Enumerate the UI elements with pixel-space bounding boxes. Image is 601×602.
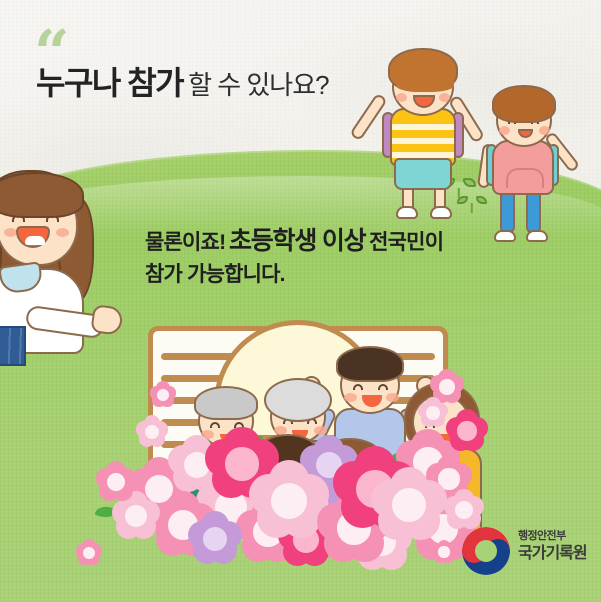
kid1-cheek-right [439,93,450,102]
kid2-cheek-right [539,126,550,135]
father-cheek-left [344,393,357,402]
taegeuk-emblem-icon [462,527,510,575]
sprout-icon-2 [462,196,482,213]
grandfather-hair [194,386,258,420]
kid2-shoe-left [494,230,516,242]
father-mouth [362,395,382,407]
sprout2-stem [471,203,473,213]
teacher-skirt [0,326,26,366]
headline-strong: 누구나 참가 [36,65,183,101]
kid-pink-hoodie [478,78,588,230]
headline: 누구나 참가할 수 있나요? [36,66,329,102]
flower-shape-27 [150,382,176,408]
headline-light: 할 수 있나요? [188,70,329,100]
flower-shape-26 [446,410,488,452]
card-news-graphic: “ 누구나 참가할 수 있나요? 물론이죠! 초등학생 이상 전국민이 참가 가… [0,0,601,602]
kid1-hair [388,48,458,92]
logo-agency: 국가기록원 [518,544,587,564]
father-hair [336,346,404,382]
body-tail: 전국민이 [369,231,443,254]
kid2-hoodie-pocket [506,168,544,188]
body-line-2: 참가 가능합니다. [145,260,443,290]
teacher-cheek-left [4,228,17,237]
kid2-mouth [518,129,533,138]
flower-shape-12 [372,468,446,542]
kid2-hoodie [492,140,554,195]
teacher-illustration [0,164,126,354]
flower-shape-17 [188,512,242,566]
teacher-cheek-right [56,228,69,237]
sprout2-leaf-left [457,196,468,204]
kid1-shorts [394,158,452,190]
flower-shape-22 [76,540,102,566]
body-copy: 물론이죠! 초등학생 이상 전국민이 참가 가능합니다. [145,224,443,289]
logo-ministry: 행정안전부 [518,530,587,543]
kid2-shoe-right [526,230,548,242]
flower-shape-25 [418,398,448,428]
flower-shape-19 [96,462,136,502]
grandmother-hair [264,378,332,422]
body-lead: 물론이죠! [145,231,225,254]
kid1-shoe-left [396,206,418,219]
father-eye-left [353,384,363,390]
kid2-hair [492,85,556,123]
government-logo: 행정안전부 국가기록원 [462,524,594,580]
flower-shape-28 [136,416,168,448]
kid1-stripe-1 [392,124,454,130]
father-eye-right [378,384,388,390]
flower-shape-23 [432,540,456,564]
kid1-mouth [413,95,435,108]
teacher-hand [90,304,124,336]
kid1-shoe-right [430,206,452,219]
body-emphasis: 초등학생 이상 [229,227,366,255]
kid1-stripe-2 [392,138,454,144]
flower-shape-6 [250,462,328,540]
body-line-1: 물론이죠! 초등학생 이상 전국민이 [145,224,443,260]
teacher-bangs [0,172,84,218]
logo-text-block: 행정안전부 국가기록원 [518,530,587,564]
kid1-cheek-left [396,93,407,102]
kid2-cheek-left [499,126,510,135]
